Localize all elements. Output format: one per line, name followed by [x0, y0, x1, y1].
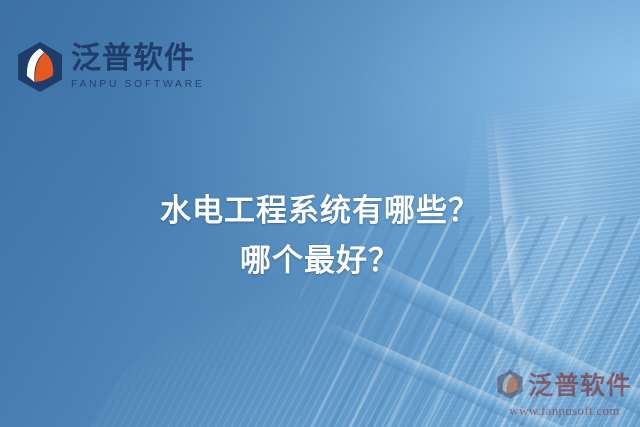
headline-line-2: 哪个最好？ — [0, 236, 640, 286]
logo-company-name-en: FANPU SOFTWARE — [71, 79, 204, 90]
headline-line-1: 水电工程系统有哪些？ — [0, 186, 640, 236]
company-logo: 泛普软件 FANPU SOFTWARE — [18, 42, 204, 92]
fanpu-hexagon-sail-icon — [18, 42, 62, 92]
logo-company-name-cn: 泛普软件 — [71, 44, 204, 74]
headline: 水电工程系统有哪些？ 哪个最好？ — [0, 186, 640, 286]
logo-text-block: 泛普软件 FANPU SOFTWARE — [71, 44, 204, 90]
marketing-banner: 泛普软件 FANPU SOFTWARE 水电工程系统有哪些？ 哪个最好？ 泛普软… — [0, 0, 640, 427]
